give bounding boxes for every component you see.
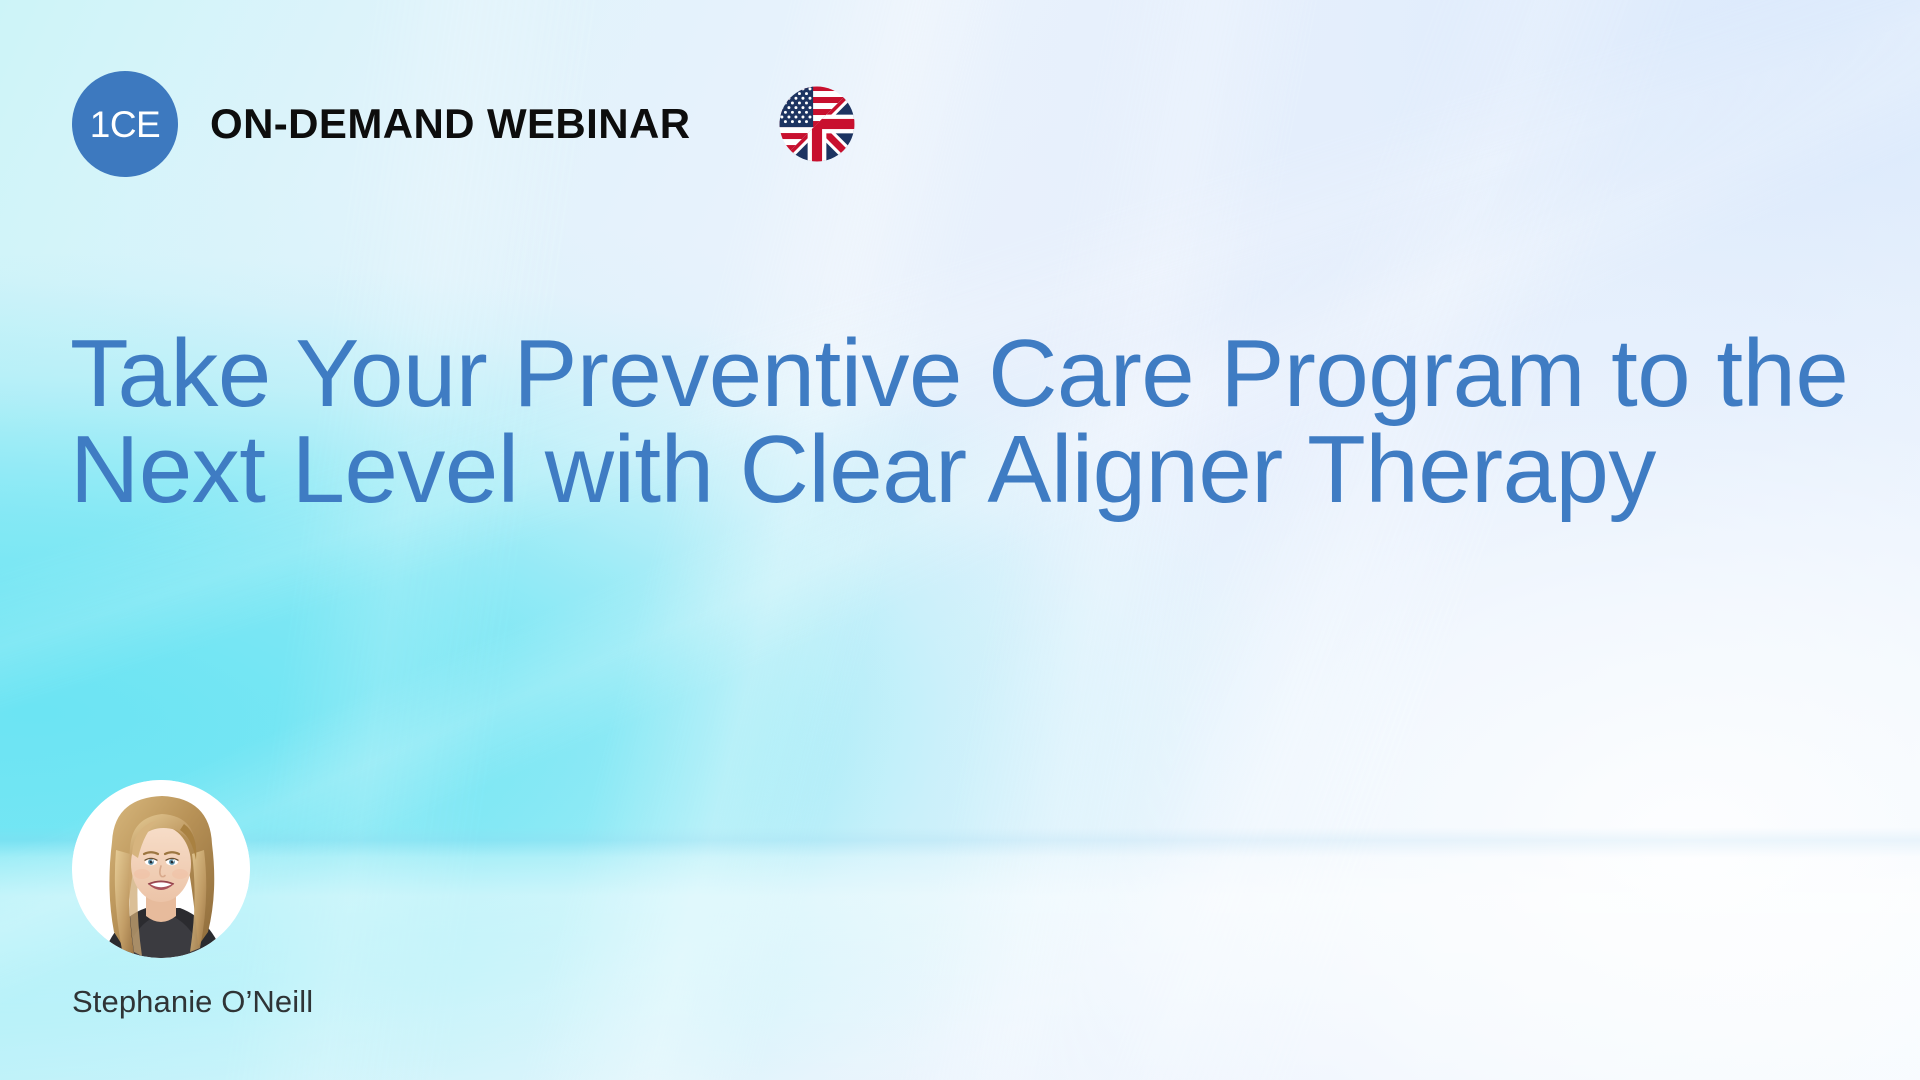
- ce-credit-badge-label: 1CE: [90, 106, 160, 143]
- header-row: 1CE ON-DEMAND WEBINAR: [72, 68, 856, 180]
- ce-credit-badge: 1CE: [72, 71, 178, 177]
- page-title: Take Your Preventive Care Program to the…: [70, 326, 1880, 518]
- speaker-headshot: [72, 780, 250, 958]
- webinar-type-label: ON-DEMAND WEBINAR: [210, 100, 690, 148]
- speaker-name: Stephanie O’Neill: [72, 984, 313, 1020]
- us-uk-flags-icon: [690, 85, 856, 163]
- webinar-promo-slide: 1CE ON-DEMAND WEBINAR: [0, 0, 1920, 1080]
- speaker-block: Stephanie O’Neill: [72, 780, 313, 1020]
